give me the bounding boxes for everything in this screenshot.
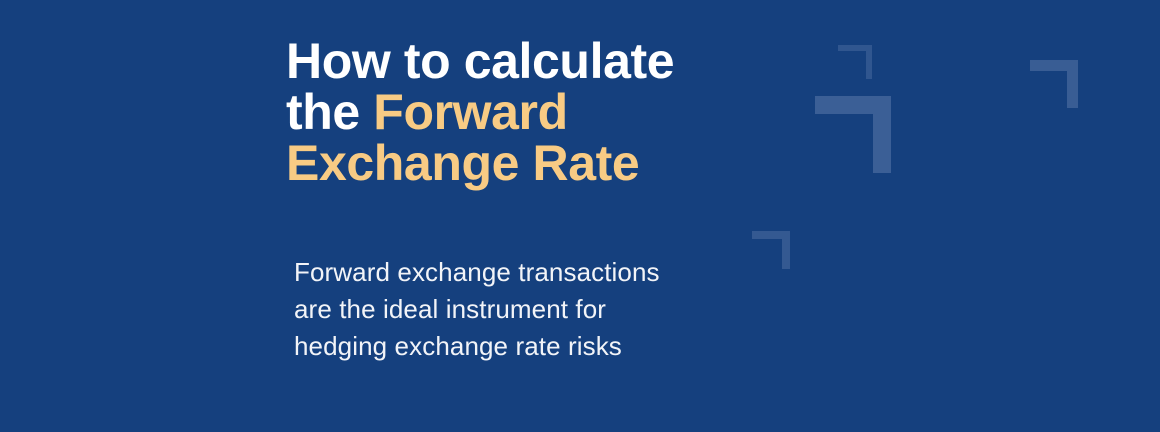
subtitle-line-2: are the ideal instrument for [294, 291, 764, 328]
banner-subtitle: Forward exchange transactions are the id… [294, 254, 764, 365]
promo-banner: How to calculatethe ForwardExchange Rate… [0, 0, 1160, 432]
headline-line-1: How to calculate [286, 33, 674, 89]
corner-bracket-right-icon [1030, 60, 1078, 108]
headline-line-3-accent: Exchange Rate [286, 135, 639, 191]
subtitle-line-3: hedging exchange rate risks [294, 328, 764, 365]
subtitle-line-1: Forward exchange transactions [294, 254, 764, 291]
headline-line-2-plain: the [286, 84, 373, 140]
headline-line-2-accent: Forward [373, 84, 567, 140]
banner-headline: How to calculatethe ForwardExchange Rate [286, 36, 906, 189]
